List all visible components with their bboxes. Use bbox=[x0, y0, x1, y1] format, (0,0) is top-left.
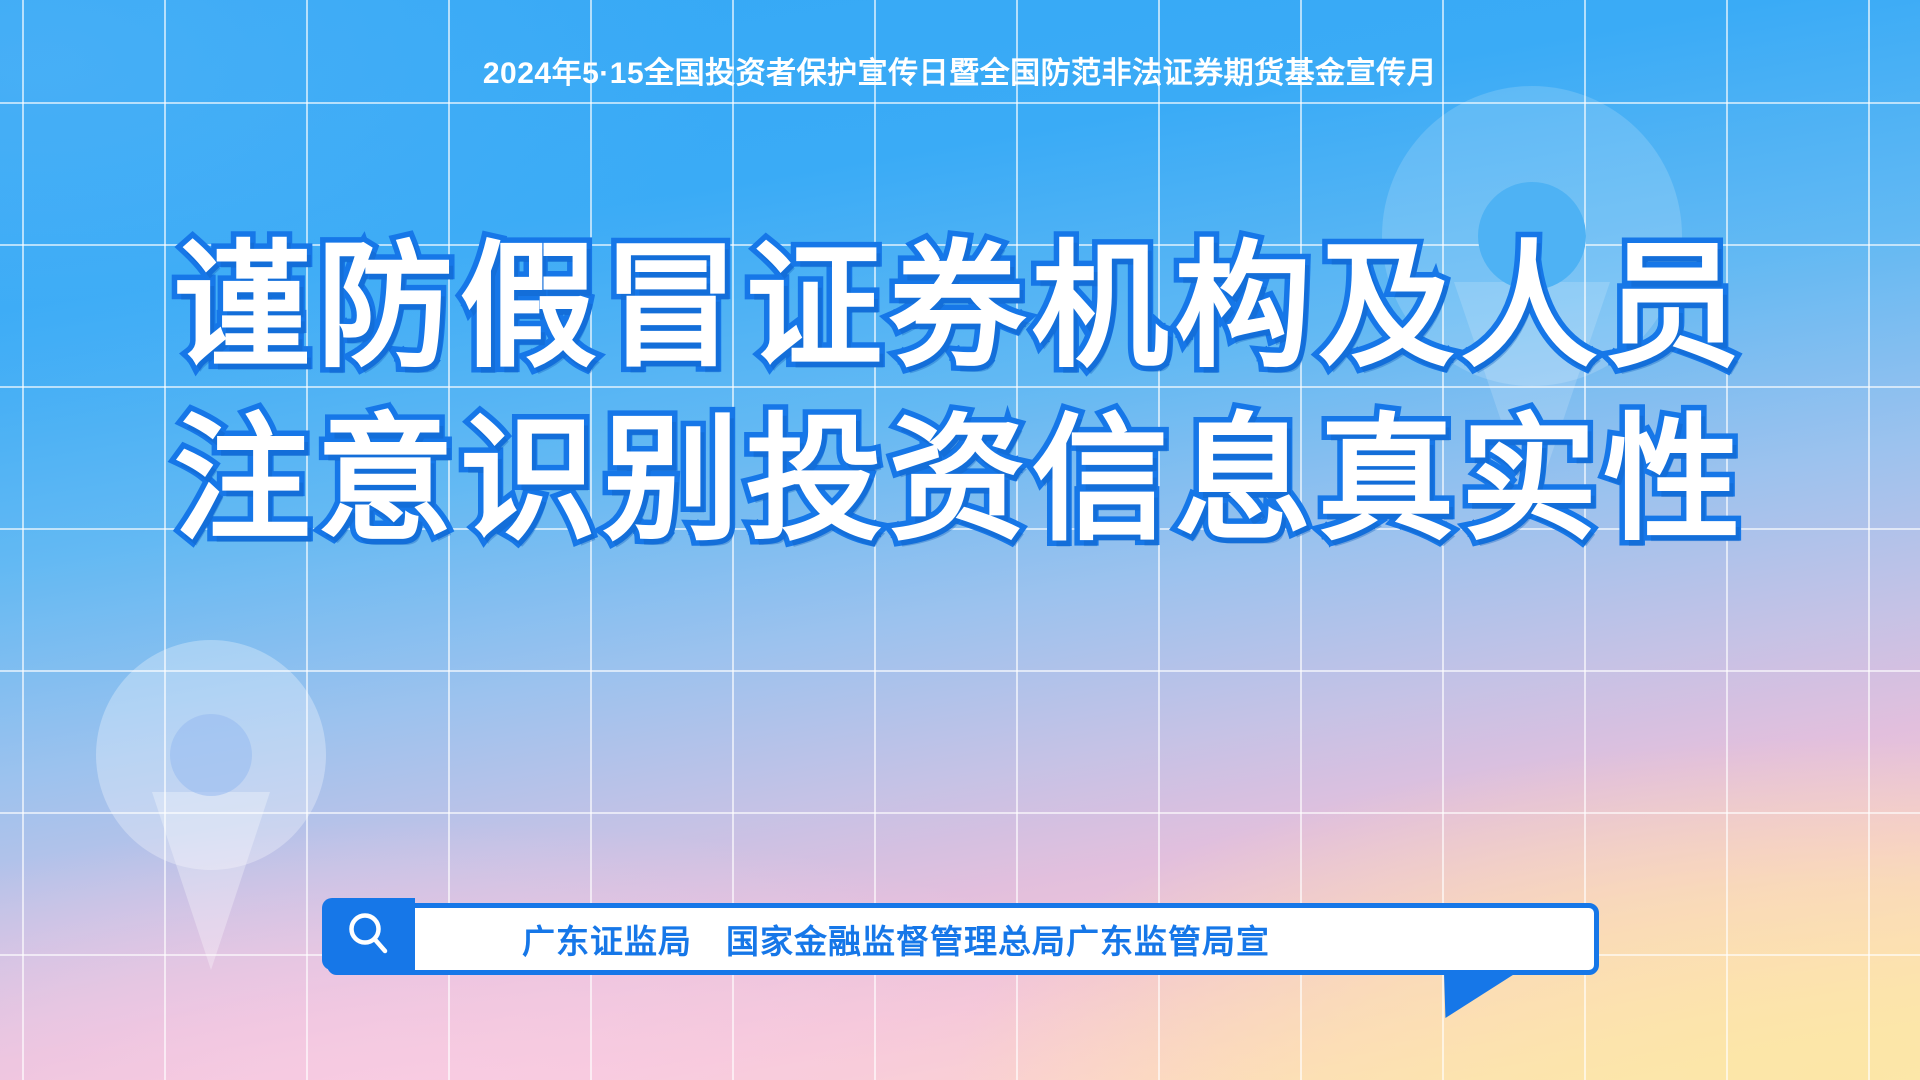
footer-speech-bubble: 广东证监局 国家金融监督管理总局广东监管局宣 bbox=[327, 903, 1599, 975]
headline-line-1: 谨防假冒证券机构及人员 bbox=[0, 222, 1920, 395]
footer-bar: 广东证监局 国家金融监督管理总局广东监管局宣 bbox=[327, 903, 1599, 975]
campaign-header: 2024年5·15全国投资者保护宣传日暨全国防范非法证券期货基金宣传月 bbox=[0, 57, 1920, 90]
footer-organizations-text: 广东证监局 国家金融监督管理总局广东监管局宣 bbox=[522, 915, 1270, 963]
headline-line-2: 注意识别投资信息真实性 bbox=[0, 395, 1920, 568]
poster-canvas: 2024年5·15全国投资者保护宣传日暨全国防范非法证券期货基金宣传月 谨防假冒… bbox=[0, 0, 1920, 1080]
headline-block: 谨防假冒证券机构及人员 注意识别投资信息真实性 bbox=[0, 222, 1920, 567]
search-icon bbox=[322, 898, 415, 970]
campaign-header-text: 2024年5·15全国投资者保护宣传日暨全国防范非法证券期货基金宣传月 bbox=[483, 57, 1437, 90]
